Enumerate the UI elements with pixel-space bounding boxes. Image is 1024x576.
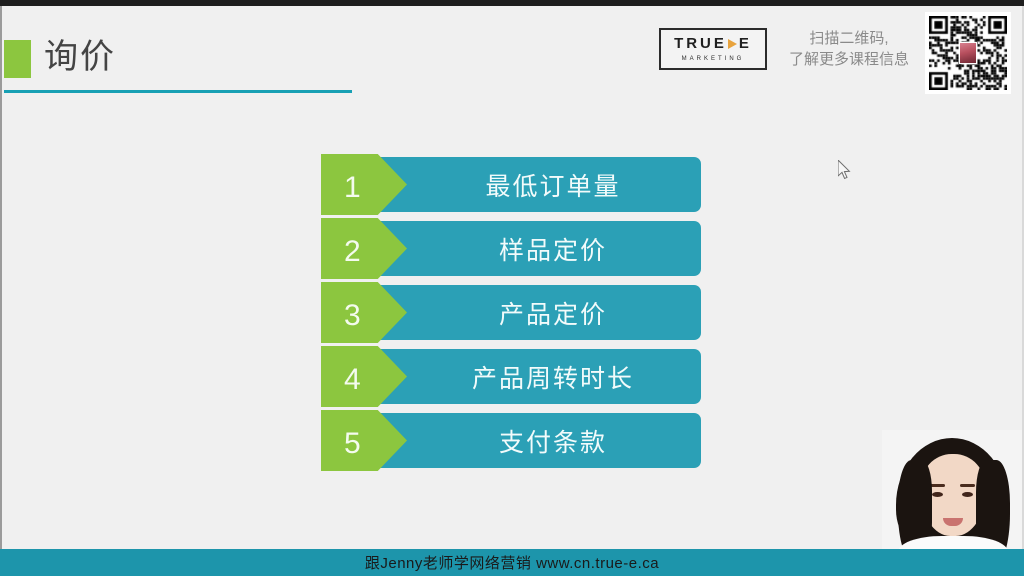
numbered-list: 最低订单量1样品定价2产品定价3产品周转时长4支付条款5 [321, 157, 701, 477]
slide-left-border [0, 6, 2, 576]
page-title: 询价 [44, 34, 116, 80]
list-item-label: 最低订单量 [405, 157, 701, 212]
presentation-slide: 询价 TRUE E MARKETING 扫描二维码, 了解更多课程信息 最低订单… [0, 0, 1024, 576]
list-item[interactable]: 支付条款5 [321, 413, 701, 468]
presenter-brow-left [930, 484, 945, 487]
logo-wordmark: TRUE E [674, 36, 752, 52]
list-item-label: 样品定价 [405, 221, 701, 276]
footer-bar: 跟Jenny老师学网络营销 www.cn.true-e.ca [0, 549, 1024, 576]
qr-caption: 扫描二维码, 了解更多课程信息 [778, 28, 920, 70]
qr-code [925, 12, 1011, 94]
qr-caption-line-1: 扫描二维码, [778, 28, 920, 49]
logo-word-right: E [739, 36, 752, 52]
presenter-brow-right [960, 484, 975, 487]
qr-center-avatar-icon [959, 42, 977, 64]
title-underline [4, 90, 352, 93]
title-accent-square [4, 40, 31, 78]
true-e-marketing-logo: TRUE E MARKETING [659, 28, 767, 70]
list-item[interactable]: 产品定价3 [321, 285, 701, 340]
list-item-label: 产品定价 [405, 285, 701, 340]
list-item[interactable]: 样品定价2 [321, 221, 701, 276]
list-item-label: 支付条款 [405, 413, 701, 468]
list-item[interactable]: 最低订单量1 [321, 157, 701, 212]
logo-subtitle: MARKETING [682, 55, 745, 63]
player-top-strip [0, 0, 1024, 6]
list-item-label: 产品周转时长 [405, 349, 701, 404]
logo-word-left: TRUE [674, 36, 727, 52]
play-triangle-icon [728, 39, 737, 49]
presenter-eye-right [962, 492, 973, 497]
qr-caption-line-2: 了解更多课程信息 [778, 49, 920, 70]
list-item[interactable]: 产品周转时长4 [321, 349, 701, 404]
mouse-cursor-icon [838, 160, 852, 180]
presenter-eye-left [932, 492, 943, 497]
footer-text: 跟Jenny老师学网络营销 www.cn.true-e.ca [365, 552, 659, 573]
